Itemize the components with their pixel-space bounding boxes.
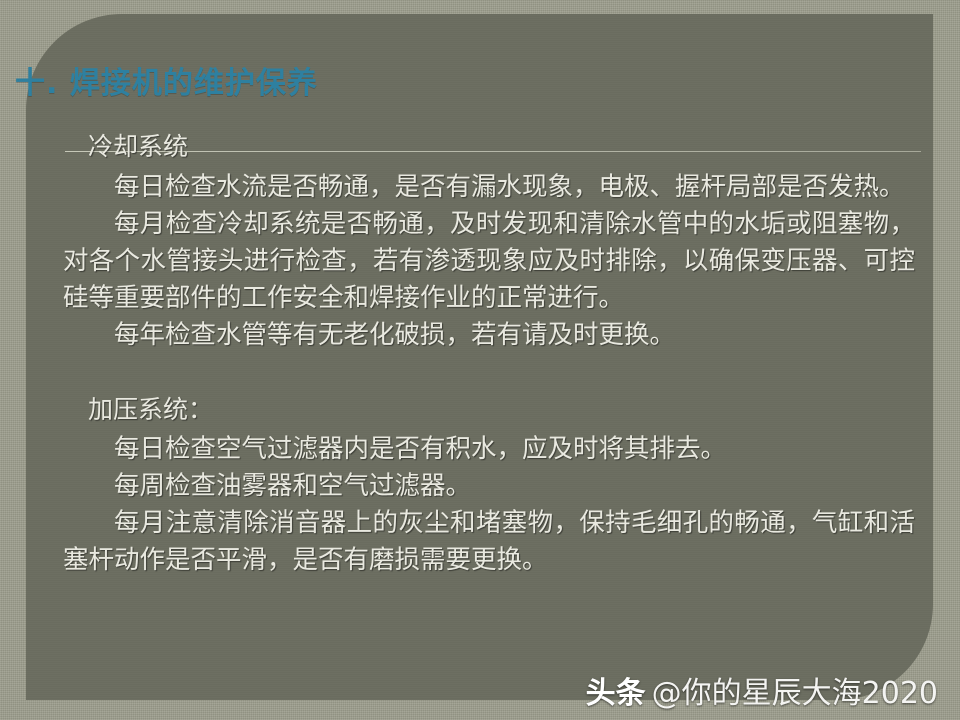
paragraph: 每月检查冷却系统是否畅通，及时发现和清除水管中的水垢或阻塞物，对各个水管接头进行… (63, 205, 915, 316)
section-cooling-system: 冷却系统 每日检查水流是否畅通，是否有漏水现象，电极、握杆局部是否发热。 每月检… (63, 132, 915, 353)
section-heading-row: 冷却系统 (63, 132, 915, 168)
paragraph: 每年检查水管等有无老化破损，若有请及时更换。 (63, 316, 915, 353)
slide-canvas: 十. 焊接机的维护保养 冷却系统 每日检查水流是否畅通，是否有漏水现象，电极、握… (0, 0, 960, 720)
paragraph: 每周检查油雾器和空气过滤器。 (63, 467, 915, 504)
slide-body: 冷却系统 每日检查水流是否畅通，是否有漏水现象，电极、握杆局部是否发热。 每月检… (63, 132, 915, 578)
section-spacer (63, 353, 915, 393)
section-pressurization-system: 加压系统： 每日检查空气过滤器内是否有积水，应及时将其排去。 每周检查油雾器和空… (63, 393, 915, 578)
paragraph: 每月注意清除消音器上的灰尘和堵塞物，保持毛细孔的畅通，气缸和活塞杆动作是否平滑，… (63, 504, 915, 578)
section-heading-pressurization: 加压系统： (63, 393, 915, 429)
paragraph: 每日检查水流是否畅通，是否有漏水现象，电极、握杆局部是否发热。 (63, 168, 915, 205)
section-divider-line (65, 151, 921, 152)
watermark-handle: @你的星辰大海2020 (652, 668, 938, 712)
watermark-brand: 头条 (586, 668, 646, 712)
section-heading-cooling: 冷却系统 (88, 130, 188, 166)
paragraph: 每日检查空气过滤器内是否有积水，应及时将其排去。 (63, 430, 915, 467)
watermark: 头条 @你的星辰大海2020 (586, 668, 938, 712)
